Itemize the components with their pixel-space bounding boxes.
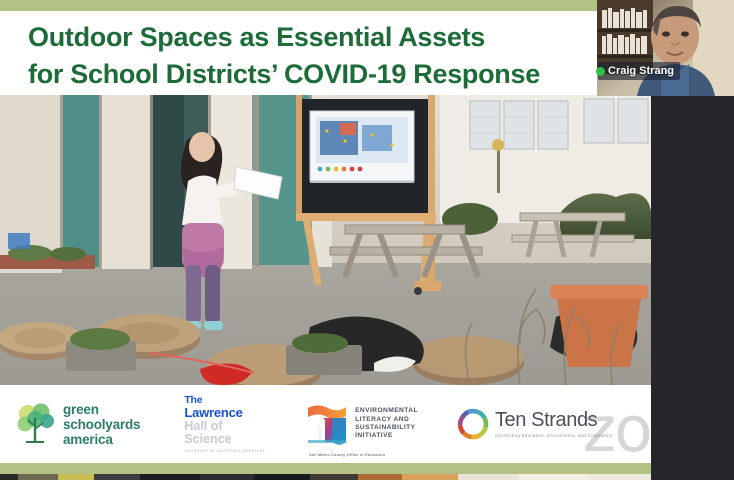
- partner-logo-bar: green schoolyards america The Lawrence H…: [0, 385, 651, 463]
- presentation-slide: Outdoor Spaces as Essential Assets for S…: [0, 0, 651, 474]
- lhs-university: UNIVERSITY OF CALIFORNIA, BERKELEY: [184, 448, 265, 454]
- ten-strands-name: Ten Strands: [495, 410, 613, 431]
- gsa-line-3: america: [63, 432, 140, 447]
- elsi-wordmark: ENVIRONMENTAL LITERACY AND SUSTAINABILIT…: [355, 407, 418, 441]
- lhs-wordmark: The Lawrence Hall of Science UNIVERSITY …: [184, 395, 265, 454]
- lhs-science: Science: [184, 433, 265, 446]
- elsi-line-3: SUSTAINABILITY: [355, 424, 418, 432]
- lhs-lawrence: Lawrence: [184, 406, 265, 420]
- lhs-hall-of: Hall of: [184, 420, 265, 433]
- lhs-the: The: [184, 395, 265, 406]
- ten-strands-wordmark: Ten Strands Connecting Education, Enviro…: [495, 410, 613, 439]
- slide-bottom-band: [0, 463, 651, 474]
- tree-icon: [16, 402, 56, 446]
- slide-top-band: [0, 0, 651, 11]
- slide-title-block: Outdoor Spaces as Essential Assets for S…: [0, 11, 651, 95]
- speaker-name-label: Craig Strang: [608, 65, 674, 77]
- logo-ten-strands: Ten Strands Connecting Education, Enviro…: [456, 407, 613, 441]
- elsi-sub-label: San Mateo County Office of Education: [309, 452, 385, 458]
- screen-share-region[interactable]: Outdoor Spaces as Essential Assets for S…: [0, 0, 651, 480]
- elsi-mark-icon: [305, 402, 349, 446]
- slide-title-line-1: Outdoor Spaces as Essential Assets: [28, 19, 651, 56]
- elsi-line-1: ENVIRONMENTAL: [355, 407, 418, 415]
- logo-lawrence-hall-of-science: The Lawrence Hall of Science UNIVERSITY …: [184, 395, 265, 454]
- gsa-wordmark: green schoolyards america: [63, 402, 140, 447]
- elsi-line-2: LITERACY AND: [355, 416, 418, 424]
- logo-environmental-literacy-sustainability-initiative: ENVIRONMENTAL LITERACY AND SUSTAINABILIT…: [305, 402, 418, 446]
- zoom-meeting-window: Outdoor Spaces as Essential Assets for S…: [0, 0, 734, 480]
- elsi-line-4: INITIATIVE: [355, 432, 418, 440]
- gsa-line-2: schoolyards: [63, 417, 140, 432]
- ten-strands-tagline: Connecting Education, Environment, and C…: [495, 432, 613, 439]
- slide-photo: [0, 95, 651, 385]
- logo-green-schoolyards-america: green schoolyards america: [16, 402, 140, 447]
- gsa-line-1: green: [63, 402, 140, 417]
- speaker-name-plate: Craig Strang: [598, 62, 680, 80]
- ten-strands-ring-icon: [456, 407, 490, 441]
- slide-title-line-2: for School Districts’ COVID-19 Response: [28, 56, 651, 93]
- slide-bottom-filmstrip: [0, 474, 651, 480]
- speaker-video-tile[interactable]: [597, 0, 734, 96]
- microphone-indicator-icon: [596, 67, 605, 76]
